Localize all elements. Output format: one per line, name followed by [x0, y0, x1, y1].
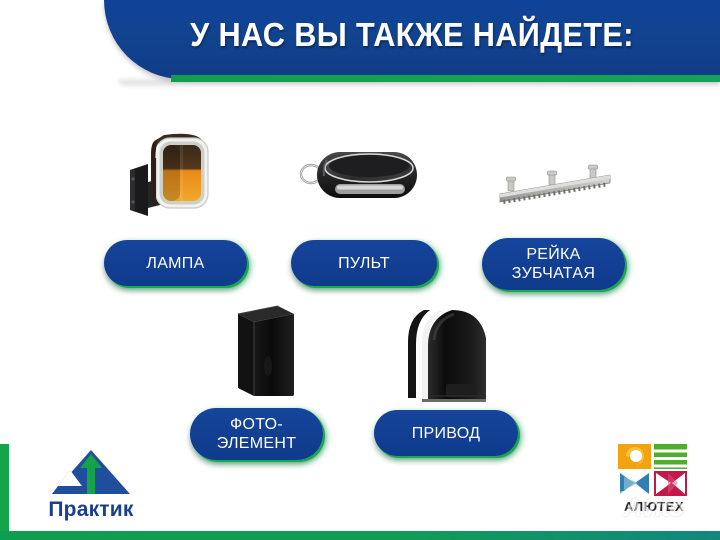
pill-label-photocell-line1: ФОТО- — [217, 415, 297, 434]
praktik-logo-text: Практик — [30, 498, 152, 522]
gear-rack-image — [492, 163, 622, 208]
praktik-mountain-icon — [30, 448, 152, 498]
gate-drive-image — [400, 300, 498, 404]
product-pill-photocell[interactable]: ФОТО- ЭЛЕМЕНТ — [190, 408, 323, 460]
header-banner: У НАС ВЫ ТАКЖЕ НАЙДЕТЕ: — [104, 0, 720, 79]
pill-label-drive: ПРИВОД — [412, 424, 481, 443]
pill-label-photocell-line2: ЭЛЕМЕНТ — [217, 434, 297, 453]
banner-green-underline — [171, 75, 720, 82]
signal-lamp-image — [118, 124, 218, 224]
slide-canvas: У НАС ВЫ ТАКЖЕ НАЙДЕТЕ: — [0, 0, 720, 540]
remote-control-image — [297, 144, 421, 206]
alutech-logo: АЛЮТЕХ — [616, 443, 692, 523]
slide-bottom-green-edge — [0, 531, 720, 540]
pill-label-gear-rack-line2: ЗУБЧАТАЯ — [512, 264, 595, 283]
praktik-logo: Практик — [30, 448, 152, 526]
page-title: У НАС ВЫ ТАКЖЕ НАЙДЕТЕ: — [126, 16, 699, 54]
pill-label-lamp: ЛАМПА — [146, 254, 204, 273]
product-pill-remote[interactable]: ПУЛЬТ — [291, 240, 437, 286]
photocell-image — [220, 300, 310, 402]
product-pill-drive[interactable]: ПРИВОД — [374, 410, 518, 456]
alutech-logo-text: АЛЮТЕХ — [612, 499, 696, 514]
slide-left-green-edge — [0, 444, 9, 540]
product-pill-gear-rack[interactable]: РЕЙКА ЗУБЧАТАЯ — [482, 238, 625, 290]
product-pill-lamp[interactable]: ЛАМПА — [104, 240, 247, 286]
alutech-tiles-icon — [616, 443, 692, 497]
pill-label-gear-rack-line1: РЕЙКА — [512, 245, 595, 264]
pill-label-remote: ПУЛЬТ — [338, 254, 390, 273]
